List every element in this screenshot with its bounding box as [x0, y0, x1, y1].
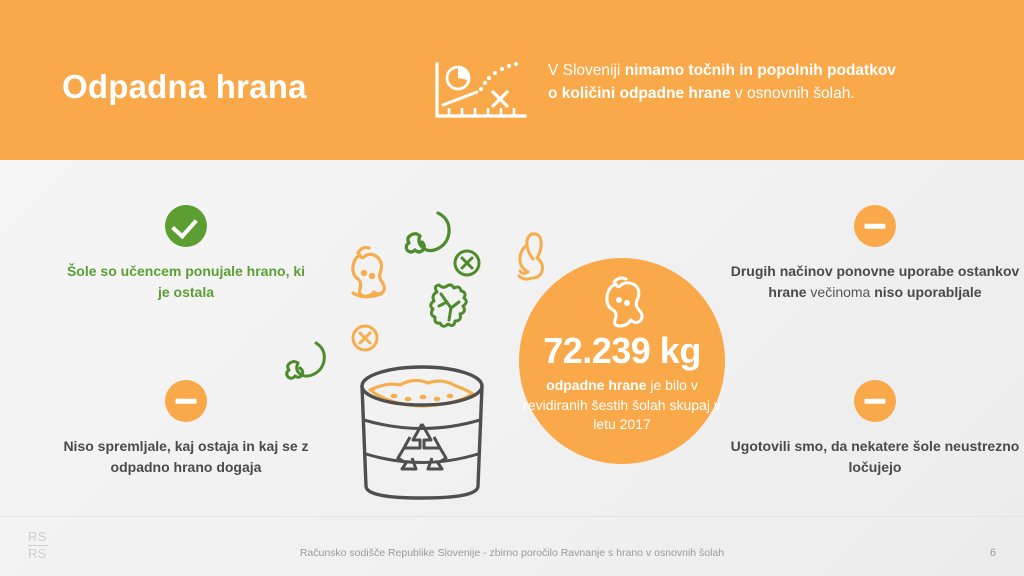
slide: Odpadna hrana [0, 0, 1024, 576]
chicken-drumstick-icon [280, 335, 332, 387]
minus-glyph [865, 399, 886, 404]
key-statistic-circle: 72.239 kg odpadne hrane je bilo v revidi… [519, 258, 725, 464]
page-title: Odpadna hrana [62, 68, 307, 106]
header-statement-part2: v osnovnih šolah. [731, 85, 855, 102]
minus-circle-icon [854, 205, 896, 247]
finding-text-bottom-right: Ugotovili smo, da nekatere šole neustrez… [730, 436, 1020, 477]
logo-line-1: RS [28, 530, 56, 544]
banana-peel-icon [508, 228, 552, 286]
header-banner: Odpadna hrana [0, 0, 1024, 160]
chart-pie-trend-icon [427, 58, 532, 130]
apple-core-icon [336, 243, 398, 305]
finding-block-top-right: Drugih načinov ponovne uporabe ostankov … [730, 205, 1020, 302]
header-statement: V Sloveniji nimamo točnih in popolnih po… [548, 60, 908, 105]
minus-glyph [865, 224, 886, 229]
key-statistic-caption: odpadne hrane je bilo v revidiranih šest… [519, 376, 725, 435]
page-number: 6 [990, 547, 996, 559]
minus-circle-icon [854, 380, 896, 422]
finding-block-bottom-right: Ugotovili smo, da nekatere šole neustrez… [730, 380, 1020, 477]
footer-caption: Računsko sodišče Republike Slovenije - z… [0, 547, 1024, 559]
x-circle-icon [350, 323, 380, 353]
apple-core-icon [592, 274, 652, 330]
lettuce-leaf-icon [425, 280, 473, 332]
finding-text-top-right: Drugih načinov ponovne uporabe ostankov … [730, 261, 1020, 302]
minus-glyph [176, 399, 197, 404]
finding-text-bottom-left: Niso spremljale, kaj ostaja in kaj se z … [60, 436, 312, 477]
x-circle-icon [452, 248, 482, 278]
recycling-bin-icon [342, 358, 502, 506]
finding-text-top-right-light: večinoma [810, 284, 874, 300]
finding-text-top-right-bold2: niso uporabljale [874, 284, 981, 300]
minus-circle-icon [165, 380, 207, 422]
header-statement-part1: V Sloveniji [548, 62, 625, 79]
key-statistic-value: 72.239 kg [519, 330, 725, 372]
key-statistic-caption-bold: odpadne hrane [546, 377, 646, 393]
check-glyph [171, 212, 198, 239]
chicken-drumstick-icon [400, 205, 458, 263]
finding-block-bottom-left: Niso spremljale, kaj ostaja in kaj se z … [60, 380, 312, 477]
footer-divider [0, 516, 1024, 517]
check-circle-icon [165, 205, 207, 247]
finding-text-top-left: Šole so učencem ponujale hrano, ki je os… [60, 261, 312, 302]
finding-block-top-left: Šole so učencem ponujale hrano, ki je os… [60, 205, 312, 302]
